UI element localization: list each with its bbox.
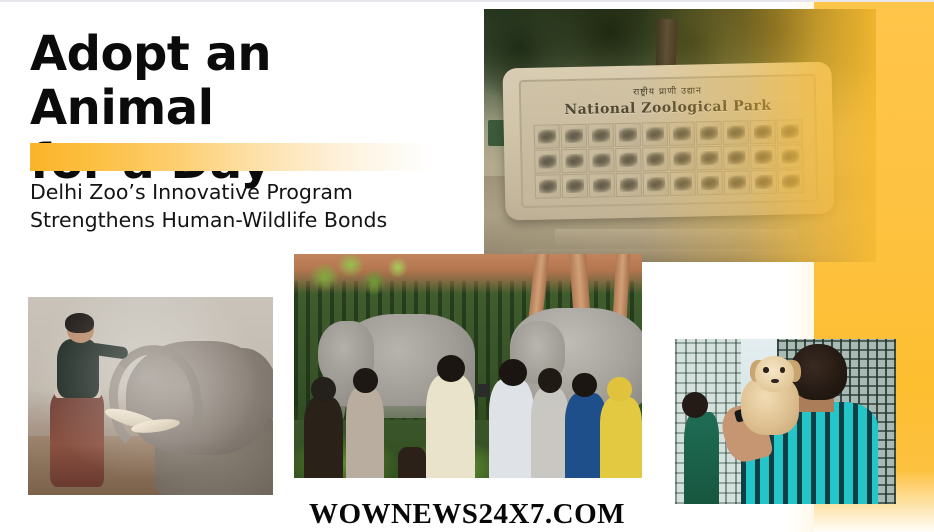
title-line-1: Adopt an Animal: [30, 26, 271, 136]
woman-elephant-scene: [28, 297, 273, 495]
visitor-head: [311, 377, 335, 402]
visitor-head: [538, 368, 562, 393]
man-holding-puppy-at-shelter-photo: [675, 339, 896, 504]
visitor-head: [572, 373, 596, 398]
photo-haze: [28, 297, 273, 495]
visitor-silhouette: [489, 379, 534, 478]
puppy-eye: [780, 367, 785, 373]
visitor-silhouette: [531, 388, 569, 478]
news-graphic-canvas: राष्ट्रीय प्राणी उद्यान National Zoologi…: [0, 0, 934, 532]
woman-background: [684, 412, 719, 504]
phone-camera: [478, 384, 488, 397]
man-puppy-scene: [675, 339, 896, 504]
puppy-eye: [763, 367, 768, 373]
visitor-silhouette: [600, 397, 642, 478]
article-subtitle: Delhi Zoo’s Innovative Program Strengthe…: [30, 178, 448, 235]
elephants-visitors-scene: [294, 254, 642, 478]
woman-touching-elephant-photo: [28, 297, 273, 495]
visitor-head: [607, 377, 631, 402]
woman-head: [682, 392, 709, 418]
zoo-entrance-sign-photo: राष्ट्रीय प्राणी उद्यान National Zoologi…: [484, 9, 876, 262]
visitor-head: [353, 368, 377, 393]
foreground-leaves: [301, 254, 419, 317]
visitor-silhouette: [398, 447, 426, 478]
site-wordmark: WOWNEWS24X7.COM: [0, 498, 934, 531]
zoo-sign-scene: राष्ट्रीय प्राणी उद्यान National Zoologi…: [484, 9, 876, 262]
puppy-head: [755, 356, 795, 392]
orange-accent-bar: [30, 143, 434, 171]
visitor-silhouette: [304, 397, 342, 478]
visitor-silhouette: [346, 388, 384, 478]
orange-gradient-overlay: [484, 9, 876, 262]
visitor-silhouette: [426, 375, 475, 478]
zoo-visitors-watching-elephants-photo: [294, 254, 642, 478]
visitor-head: [437, 355, 465, 382]
puppy-nose: [771, 379, 779, 384]
